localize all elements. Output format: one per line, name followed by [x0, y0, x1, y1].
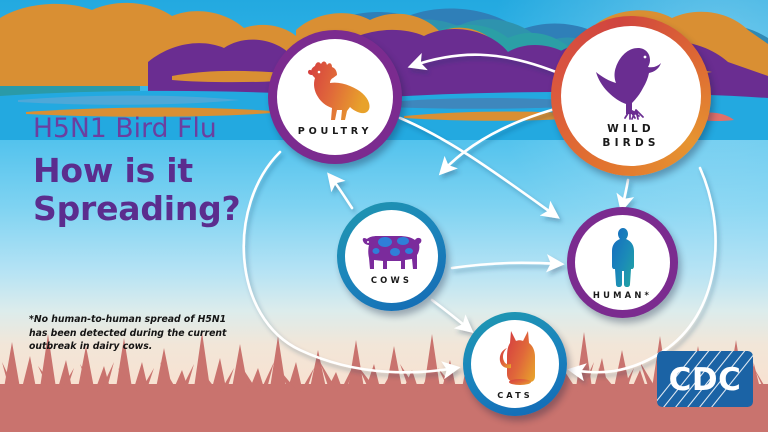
arrow-cows-to-poultry [330, 176, 352, 208]
arrow-cows-to-cats [432, 300, 470, 330]
cdc-logo-text: CDC [669, 362, 742, 398]
footnote-text: *No human-to-human spread of H5N1 has be… [29, 313, 229, 354]
node-label-line1: WILD [602, 123, 659, 137]
cat-icon [489, 328, 541, 388]
node-label: CATS [497, 390, 533, 400]
page-title-line2: Spreading? [33, 190, 333, 228]
arrow-wildbirds-to-cows [442, 106, 566, 172]
node-label: POULTRY [298, 126, 372, 137]
node-cows[interactable]: COWS [337, 202, 446, 311]
person-icon [605, 226, 641, 288]
arrow-wildbirds-to-poultry [412, 55, 556, 72]
arrow-cows-to-human [452, 263, 560, 268]
node-label: WILD BIRDS [602, 123, 659, 151]
page-title-line1: How is it [33, 152, 333, 190]
page-title: How is it Spreading? [33, 152, 333, 229]
node-disc: POULTRY [277, 39, 393, 155]
cdc-logo[interactable]: CDC [657, 351, 753, 407]
node-human[interactable]: HUMAN* [567, 207, 678, 318]
cow-icon [359, 229, 425, 273]
bird-icon [592, 42, 670, 122]
node-wild-birds[interactable]: WILD BIRDS [551, 16, 711, 176]
node-disc: COWS [345, 210, 438, 303]
node-label: HUMAN* [593, 290, 652, 300]
node-label-line2: BIRDS [602, 137, 659, 151]
node-label: COWS [371, 275, 412, 285]
node-disc: CATS [471, 320, 559, 408]
node-poultry[interactable]: POULTRY [268, 30, 402, 164]
node-cats[interactable]: CATS [463, 312, 567, 416]
chicken-icon [295, 58, 375, 124]
arrow-wildbirds-to-human [622, 180, 628, 208]
node-disc: WILD BIRDS [561, 26, 701, 166]
infographic-poster: H5N1 Bird Flu How is it Spreading? *No h… [0, 0, 768, 432]
node-disc: HUMAN* [575, 215, 670, 310]
arrow-poultry-to-human [400, 118, 556, 216]
